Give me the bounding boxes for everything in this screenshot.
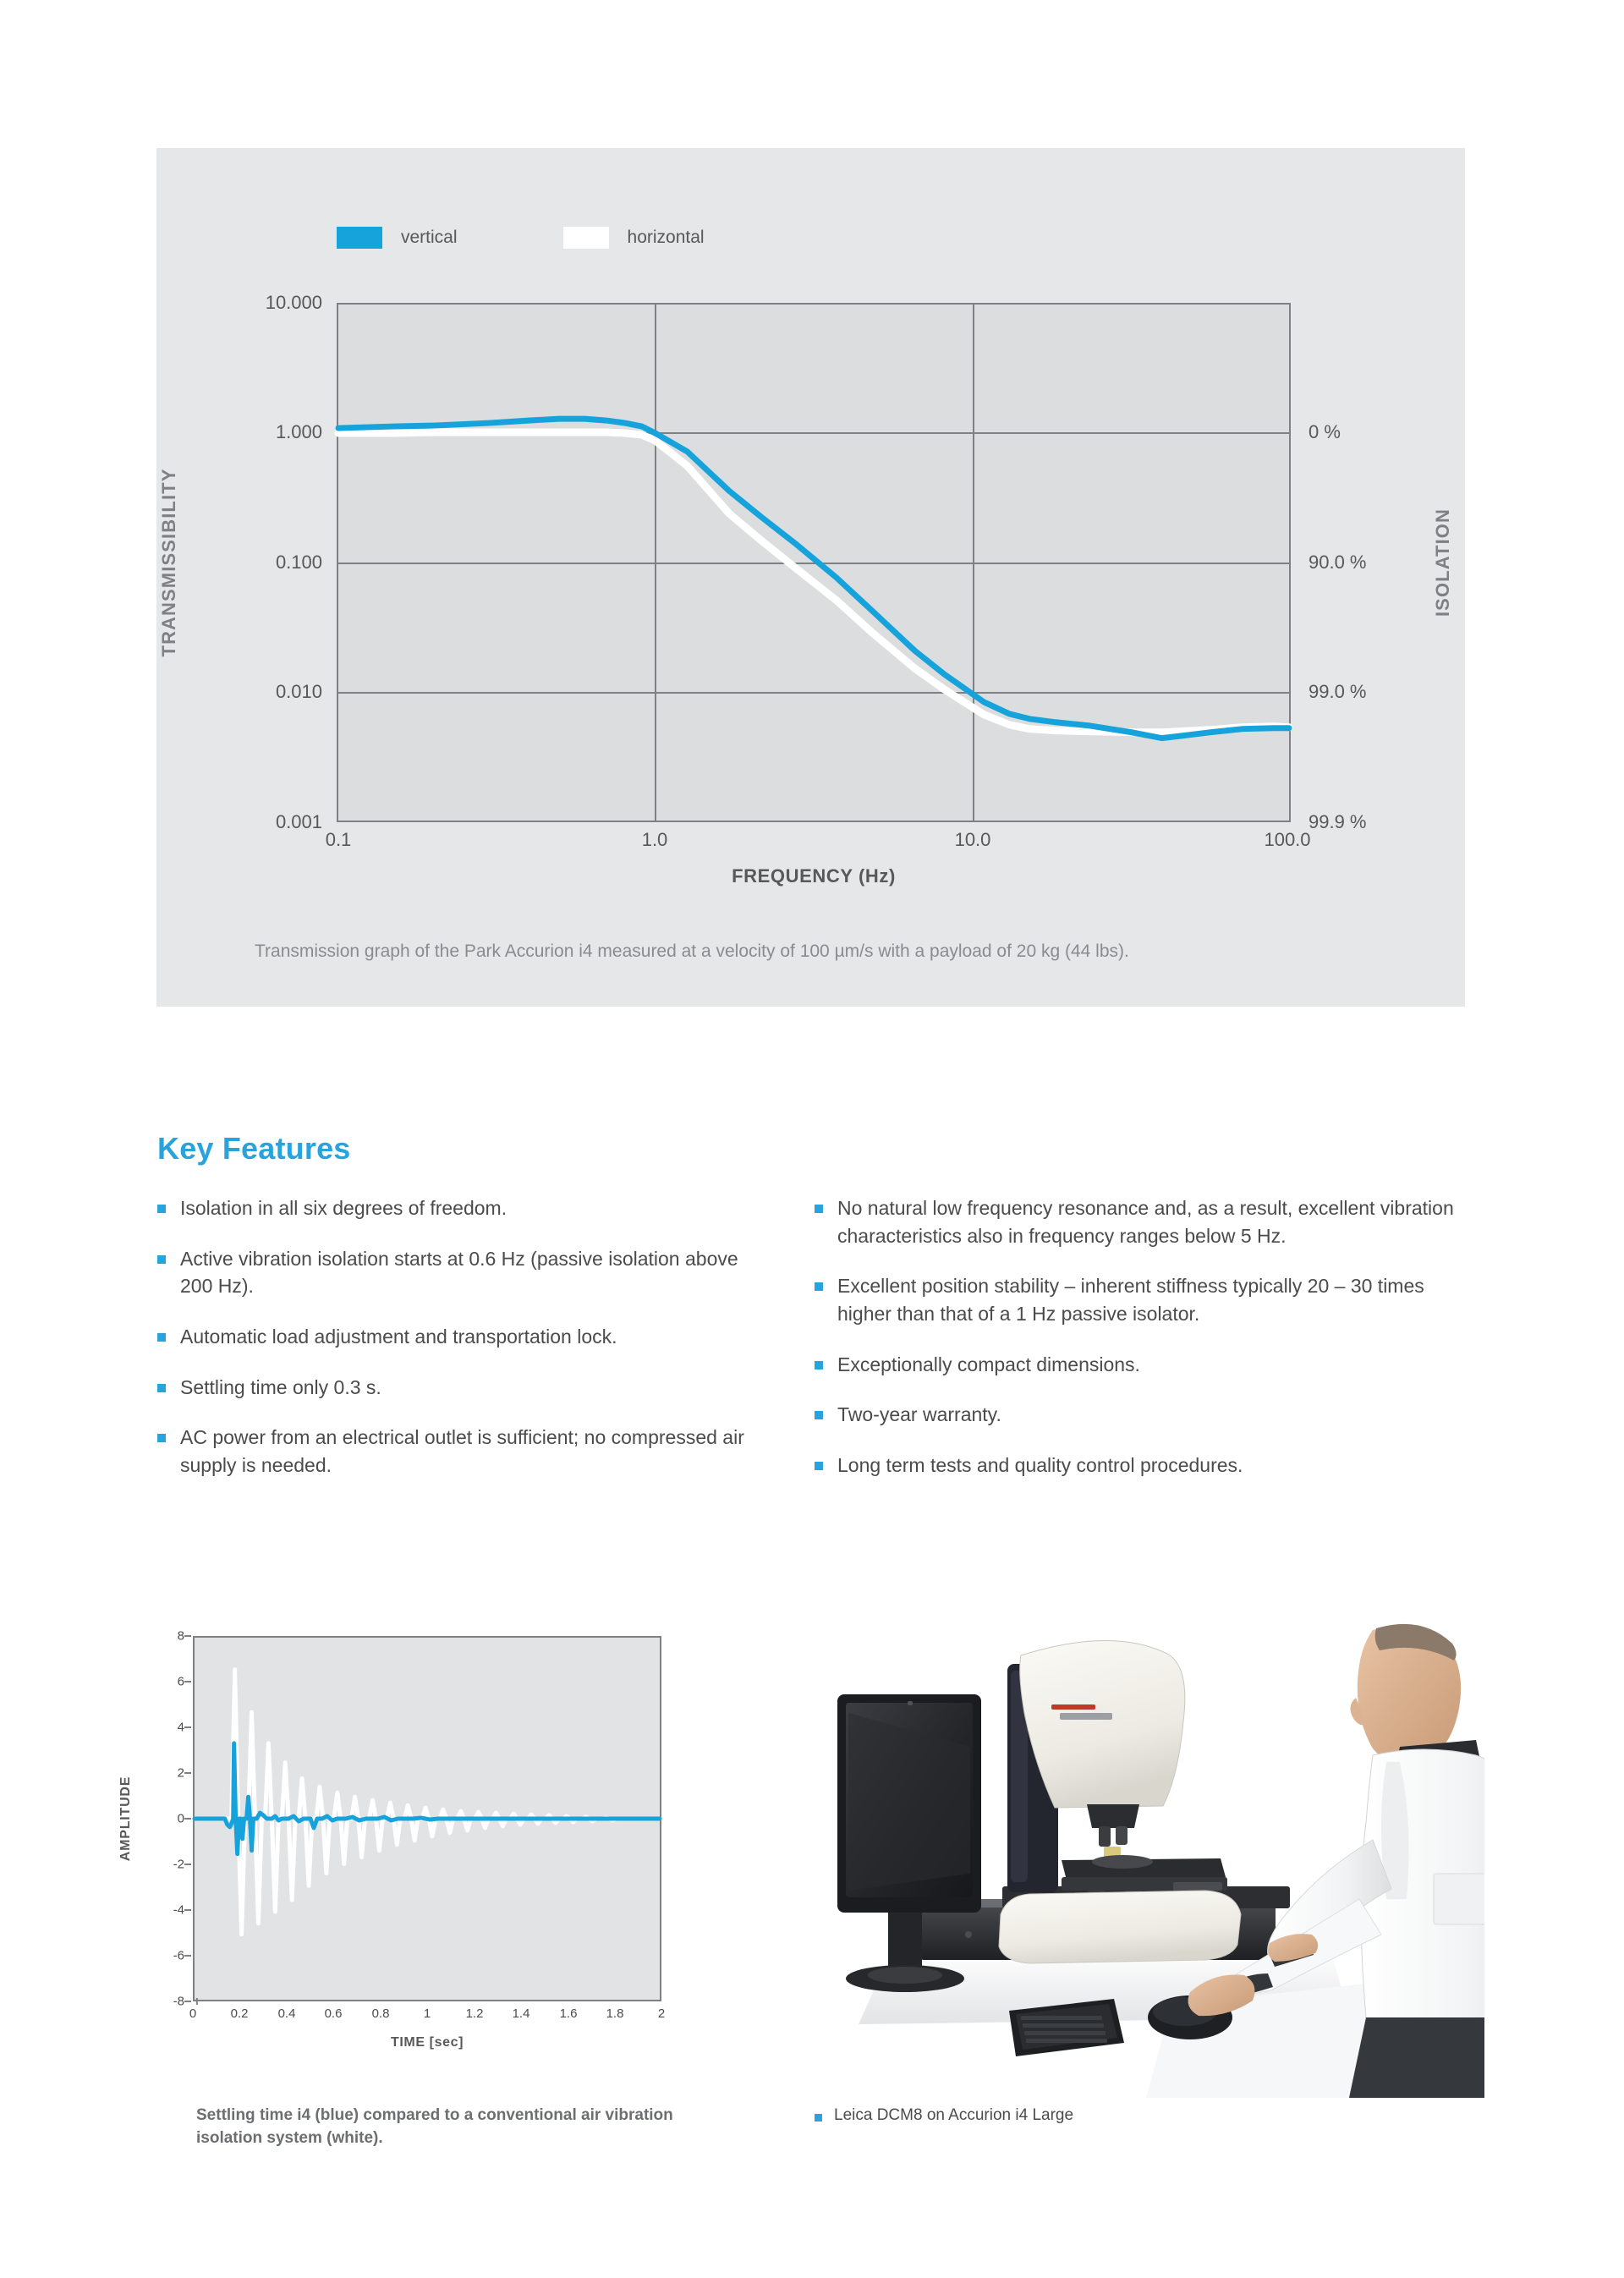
trousers [1349, 2017, 1484, 2098]
sx-tick-02: 0.2 [231, 2006, 249, 2021]
frequency-axis-title: FREQUENCY (Hz) [337, 865, 1291, 887]
list-item: Two-year warranty. [815, 1401, 1483, 1429]
photo-caption-text: Leica DCM8 on Accurion i4 Large [834, 2106, 1073, 2125]
y-tick-0010: 0.010 [276, 681, 322, 703]
key-features-right-column: No natural low frequency resonance and, … [815, 1194, 1483, 1502]
legend-item-horizontal: horizontal [563, 227, 705, 249]
sy-tick-m6: -6 [173, 1949, 184, 1963]
bullet-square-icon [815, 1282, 823, 1291]
x-tick-10: 1.0 [642, 829, 668, 851]
sy-tick-8: 8 [178, 1629, 184, 1644]
sy-tick-4: 4 [178, 1721, 184, 1735]
time-tick-labels: 0 0.2 0.4 0.6 0.8 1 1.2 1.4 1.6 1.8 2 [193, 2006, 661, 2027]
legend-label-vertical: vertical [401, 228, 458, 248]
r-tick-999: 99.9 % [1309, 811, 1367, 833]
time-axis-title: TIME [sec] [193, 2035, 661, 2050]
photo-caption: Leica DCM8 on Accurion i4 Large [815, 2106, 1073, 2125]
r-tick-99: 99.0 % [1309, 681, 1367, 703]
list-item: Excellent position stability – inherent … [815, 1272, 1483, 1327]
x-tick-1000: 100.0 [1264, 829, 1310, 851]
list-item: Settling time only 0.3 s. [157, 1374, 749, 1402]
feature-text: Isolation in all six degrees of freedom. [180, 1194, 749, 1222]
curve-horizontal [338, 432, 1289, 733]
list-item: Isolation in all six degrees of freedom. [157, 1194, 749, 1222]
sx-tick-2: 2 [658, 2006, 665, 2021]
y-tick-0001: 0.001 [276, 811, 322, 833]
list-item: Automatic load adjustment and transporta… [157, 1323, 749, 1351]
key-features-heading: Key Features [157, 1131, 351, 1166]
transmission-curves [338, 305, 1289, 821]
legend-item-vertical: vertical [337, 227, 458, 249]
frequency-tick-labels: 0.1 1.0 10.0 100.0 [337, 829, 1291, 858]
sy-tick-m4: -4 [173, 1903, 184, 1918]
bullet-square-icon [157, 1384, 166, 1392]
photo-illustration [808, 1620, 1484, 2098]
isolation-tick-labels: 0 % 90.0 % 99.0 % 99.9 % [1309, 303, 1478, 822]
y-tick-0100: 0.100 [276, 552, 322, 574]
sy-tick-2: 2 [178, 1766, 184, 1781]
bullet-square-icon [815, 1205, 823, 1213]
feature-text: Two-year warranty. [837, 1401, 1483, 1429]
settling-caption: Settling time i4 (blue) compared to a co… [196, 2105, 721, 2150]
sx-tick-14: 1.4 [513, 2006, 530, 2021]
r-tick-0: 0 % [1309, 421, 1341, 443]
coat-pocket [1434, 1874, 1484, 1924]
x-tick-01: 0.1 [326, 829, 352, 851]
feature-text: Exceptionally compact dimensions. [837, 1351, 1483, 1379]
list-item: AC power from an electrical outlet is su… [157, 1424, 749, 1479]
y-tick-10000: 10.000 [266, 292, 322, 314]
microscope-base [999, 1891, 1241, 1963]
stage-knob-rail [1173, 1882, 1222, 1891]
objective-turret [1087, 1804, 1139, 1828]
platform-foot-left [965, 1931, 972, 1938]
bullet-square-icon [815, 1411, 823, 1419]
sy-tick-m2: -2 [173, 1858, 184, 1872]
settling-time-chart-panel: AMPLITUDE 8 6 4 2 0 -2 -4 -6 -8 0 0.2 0.… [110, 1624, 702, 2098]
bullet-square-icon [157, 1434, 166, 1442]
bullet-square-icon [815, 1361, 823, 1370]
bullet-square-icon [157, 1333, 166, 1342]
list-item: No natural low frequency resonance and, … [815, 1194, 1483, 1249]
sx-tick-08: 0.8 [372, 2006, 390, 2021]
feature-text: Long term tests and quality control proc… [837, 1452, 1483, 1479]
product-photo [808, 1620, 1484, 2098]
x-tick-100: 10.0 [955, 829, 991, 851]
sy-tick-6: 6 [178, 1675, 184, 1689]
feature-text: Automatic load adjustment and transporta… [180, 1323, 749, 1351]
objective-lens-2 [1116, 1826, 1127, 1845]
sy-tick-m8: -8 [173, 1995, 184, 2009]
sx-tick-06: 0.6 [325, 2006, 343, 2021]
leica-red-stripe [1051, 1704, 1095, 1710]
transmission-caption: Transmission graph of the Park Accurion … [255, 941, 1439, 962]
r-tick-90: 90.0 % [1309, 552, 1367, 574]
legend-swatch-vertical [337, 227, 382, 249]
transmissibility-tick-labels: 10.000 1.000 0.100 0.010 0.001 [156, 303, 322, 822]
sy-tick-0: 0 [178, 1812, 184, 1826]
transmission-plot-area [337, 303, 1291, 822]
list-item: Active vibration isolation starts at 0.6… [157, 1245, 749, 1300]
objective-lens-1 [1099, 1826, 1111, 1847]
feature-text: No natural low frequency resonance and, … [837, 1194, 1483, 1249]
sx-tick-12: 1.2 [466, 2006, 484, 2021]
list-item: Exceptionally compact dimensions. [815, 1351, 1483, 1379]
legend-swatch-horizontal [563, 227, 609, 249]
bullet-square-icon [815, 1462, 823, 1470]
chart-legend: vertical horizontal [337, 226, 705, 250]
settling-curves [195, 1638, 660, 2000]
list-item: Long term tests and quality control proc… [815, 1452, 1483, 1479]
bullet-square-icon [157, 1205, 166, 1213]
curve-conventional-white [195, 1670, 660, 1935]
feature-text: Active vibration isolation starts at 0.6… [180, 1245, 749, 1300]
legend-label-horizontal: horizontal [628, 228, 705, 248]
feature-text: Excellent position stability – inherent … [837, 1272, 1483, 1327]
feature-text: Settling time only 0.3 s. [180, 1374, 749, 1402]
sx-tick-1: 1 [424, 2006, 431, 2021]
y-tick-1000: 1.000 [276, 421, 322, 443]
feature-text: AC power from an electrical outlet is su… [180, 1424, 749, 1479]
sx-tick-16: 1.6 [560, 2006, 578, 2021]
amplitude-tick-labels: 8 6 4 2 0 -2 -4 -6 -8 [110, 1636, 184, 2001]
key-features-left-column: Isolation in all six degrees of freedom.… [157, 1194, 749, 1502]
sx-tick-18: 1.8 [606, 2006, 624, 2021]
settling-plot-area [193, 1636, 661, 2001]
transmission-chart-panel: vertical horizontal TRANSMISSIBILITY ISO… [156, 148, 1465, 1007]
sx-tick-04: 0.4 [278, 2006, 296, 2021]
bullet-square-icon [815, 2114, 822, 2122]
stage-rotary-plate [1092, 1855, 1153, 1869]
sx-tick-0: 0 [189, 2006, 196, 2021]
bullet-square-icon [157, 1255, 166, 1264]
leica-wordmark [1060, 1713, 1112, 1720]
